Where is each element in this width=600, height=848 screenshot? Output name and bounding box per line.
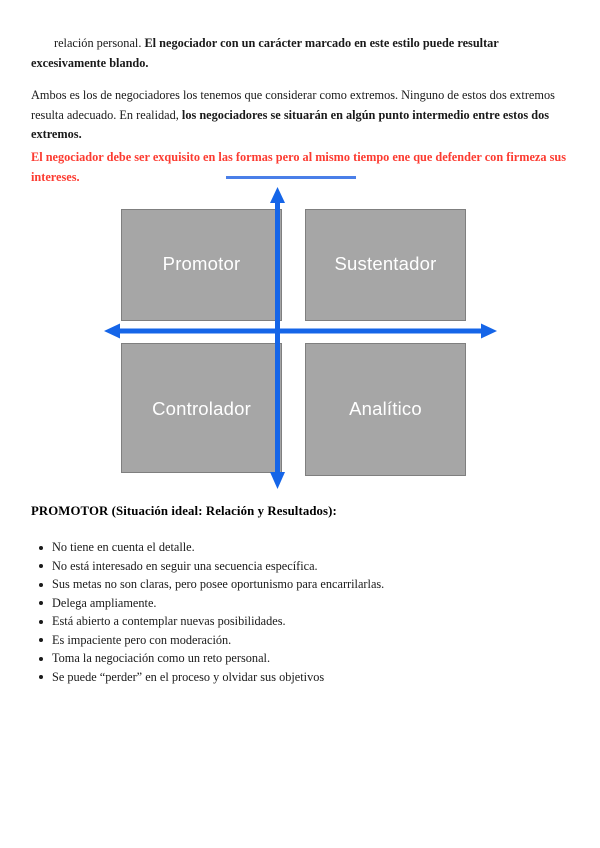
document-page: relación personal. El negociador con un … <box>0 0 600 848</box>
section-heading-promotor: PROMOTOR (Situación ideal: Relación y Re… <box>31 504 337 519</box>
arrow-head-left-icon <box>104 324 120 339</box>
list-item: Se puede “perder” en el proceso y olvida… <box>31 668 511 687</box>
list-item: Toma la negociación como un reto persona… <box>31 649 511 668</box>
arrow-head-right-icon <box>481 324 497 339</box>
arrow-head-up-icon <box>270 187 285 203</box>
list-item: Está abierto a contemplar nuevas posibil… <box>31 612 511 631</box>
quadrant-diagram: Promotor Sustentador Controlador Analíti… <box>100 170 500 495</box>
diagram-axes <box>100 170 500 495</box>
paragraph-intro-plain: relación personal. <box>54 36 144 50</box>
list-item: No está interesado en seguir una secuenc… <box>31 557 511 576</box>
list-item: Delega ampliamente. <box>31 594 511 613</box>
paragraph-ambos-extremos: Ambos es los de negociadores los tenemos… <box>31 86 573 145</box>
promotor-traits-list: No tiene en cuenta el detalle. No está i… <box>31 538 511 686</box>
list-item: Sus metas no son claras, pero posee opor… <box>31 575 511 594</box>
list-item: No tiene en cuenta el detalle. <box>31 538 511 557</box>
list-item: Es impaciente pero con moderación. <box>31 631 511 650</box>
paragraph-relacion-personal: relación personal. El negociador con un … <box>31 34 571 73</box>
arrow-head-down-icon <box>270 472 285 489</box>
